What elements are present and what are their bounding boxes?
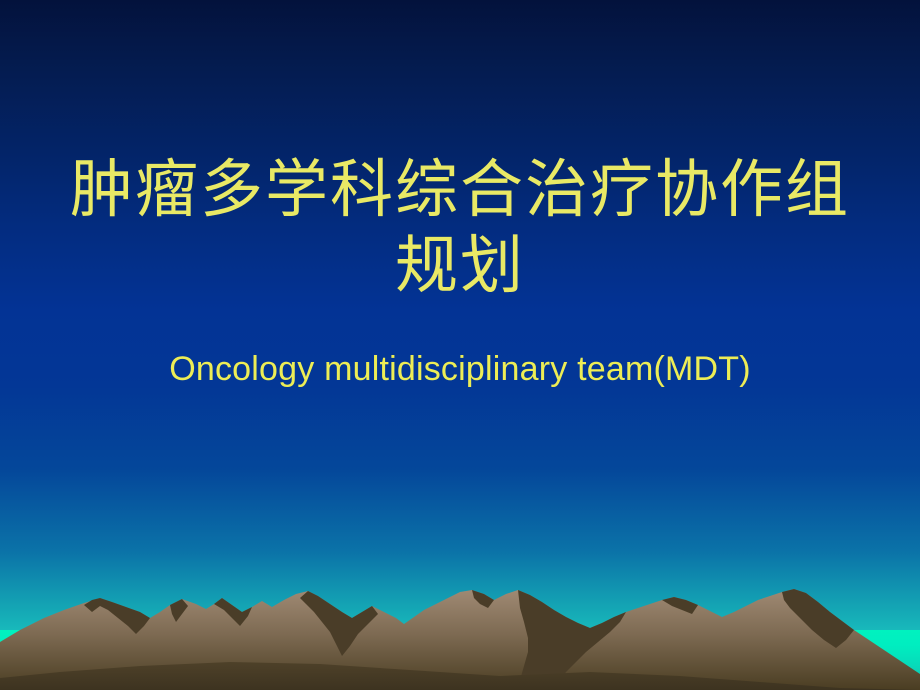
page-title: 肿瘤多学科综合治疗协作组规划 (0, 152, 920, 304)
page-subtitle: Oncology multidisciplinary team(MDT) (0, 348, 920, 390)
presentation-slide: 肿瘤多学科综合治疗协作组规划 Oncology multidisciplinar… (0, 0, 920, 690)
subtitle-block: Oncology multidisciplinary team(MDT) (0, 348, 920, 390)
title-block: 肿瘤多学科综合治疗协作组规划 (0, 152, 920, 304)
mountain-range-silhouette (0, 560, 920, 690)
